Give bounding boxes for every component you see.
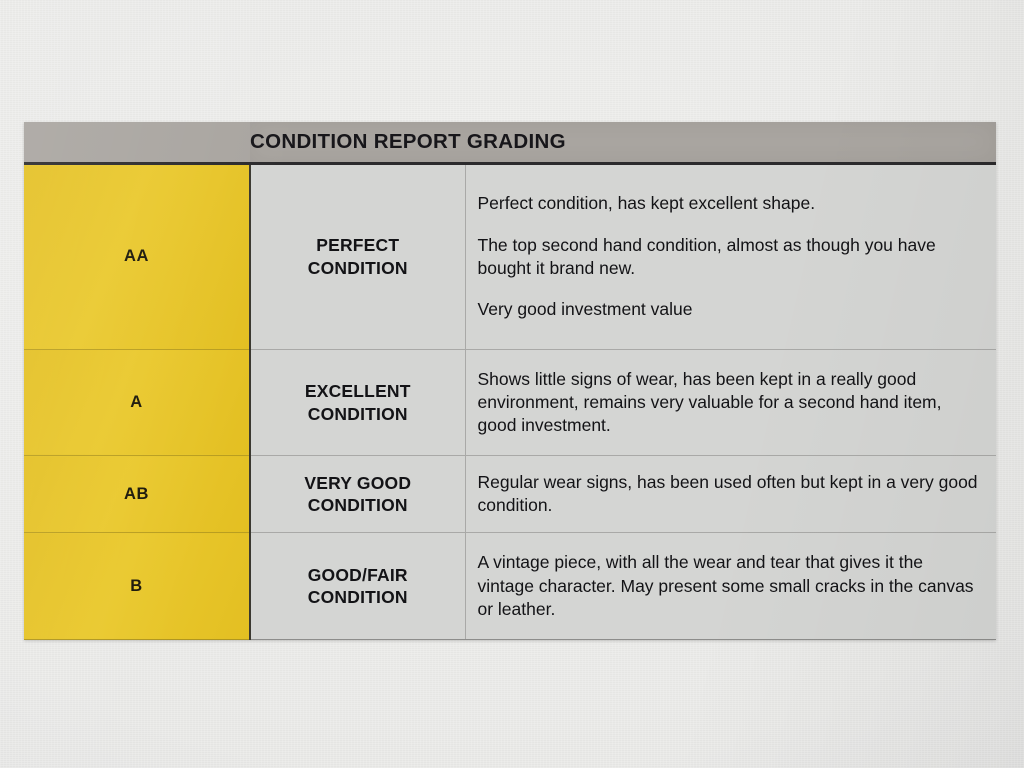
condition-description-a: Shows little signs of wear, has been kep… (465, 349, 996, 456)
condition-name-line1: GOOD/FAIR (308, 565, 408, 585)
page-title: CONDITION REPORT GRADING (250, 122, 996, 164)
condition-name-line1: VERY GOOD (304, 473, 411, 493)
condition-name-aa: PERFECT CONDITION (250, 164, 465, 350)
table-row: A EXCELLENT CONDITION Shows little signs… (24, 349, 996, 456)
condition-description-b: A vintage piece, with all the wear and t… (465, 533, 996, 640)
condition-name-line1: PERFECT (316, 235, 399, 255)
table-header: CONDITION REPORT GRADING (24, 122, 996, 164)
condition-name-line2: CONDITION (308, 404, 408, 424)
header-blank-cell (24, 122, 250, 164)
description-paragraph: Regular wear signs, has been used often … (478, 471, 983, 517)
grade-badge-a: A (24, 349, 250, 456)
condition-name-a: EXCELLENT CONDITION (250, 349, 465, 456)
description-paragraph: A vintage piece, with all the wear and t… (478, 551, 983, 620)
description-paragraph: Very good investment value (478, 298, 983, 321)
description-paragraph: The top second hand condition, almost as… (478, 234, 983, 280)
condition-name-line2: CONDITION (308, 587, 408, 607)
condition-description-aa: Perfect condition, has kept excellent sh… (465, 164, 996, 350)
table-row: AB VERY GOOD CONDITION Regular wear sign… (24, 456, 996, 533)
condition-description-ab: Regular wear signs, has been used often … (465, 456, 996, 533)
grade-badge-b: B (24, 533, 250, 640)
condition-name-line2: CONDITION (308, 258, 408, 278)
description-paragraph: Perfect condition, has kept excellent sh… (478, 192, 983, 215)
table-row: AA PERFECT CONDITION Perfect condition, … (24, 164, 996, 350)
condition-name-b: GOOD/FAIR CONDITION (250, 533, 465, 640)
grade-badge-aa: AA (24, 164, 250, 350)
condition-report-grading-table: CONDITION REPORT GRADING AA PERFECT COND… (24, 122, 996, 640)
condition-name-line2: CONDITION (308, 495, 408, 515)
grade-badge-ab: AB (24, 456, 250, 533)
condition-name-line1: EXCELLENT (305, 381, 411, 401)
grading-table: CONDITION REPORT GRADING AA PERFECT COND… (24, 122, 996, 640)
description-paragraph: Shows little signs of wear, has been kep… (478, 368, 983, 437)
header-row: CONDITION REPORT GRADING (24, 122, 996, 164)
condition-name-ab: VERY GOOD CONDITION (250, 456, 465, 533)
table-row: B GOOD/FAIR CONDITION A vintage piece, w… (24, 533, 996, 640)
table-body: AA PERFECT CONDITION Perfect condition, … (24, 164, 996, 640)
